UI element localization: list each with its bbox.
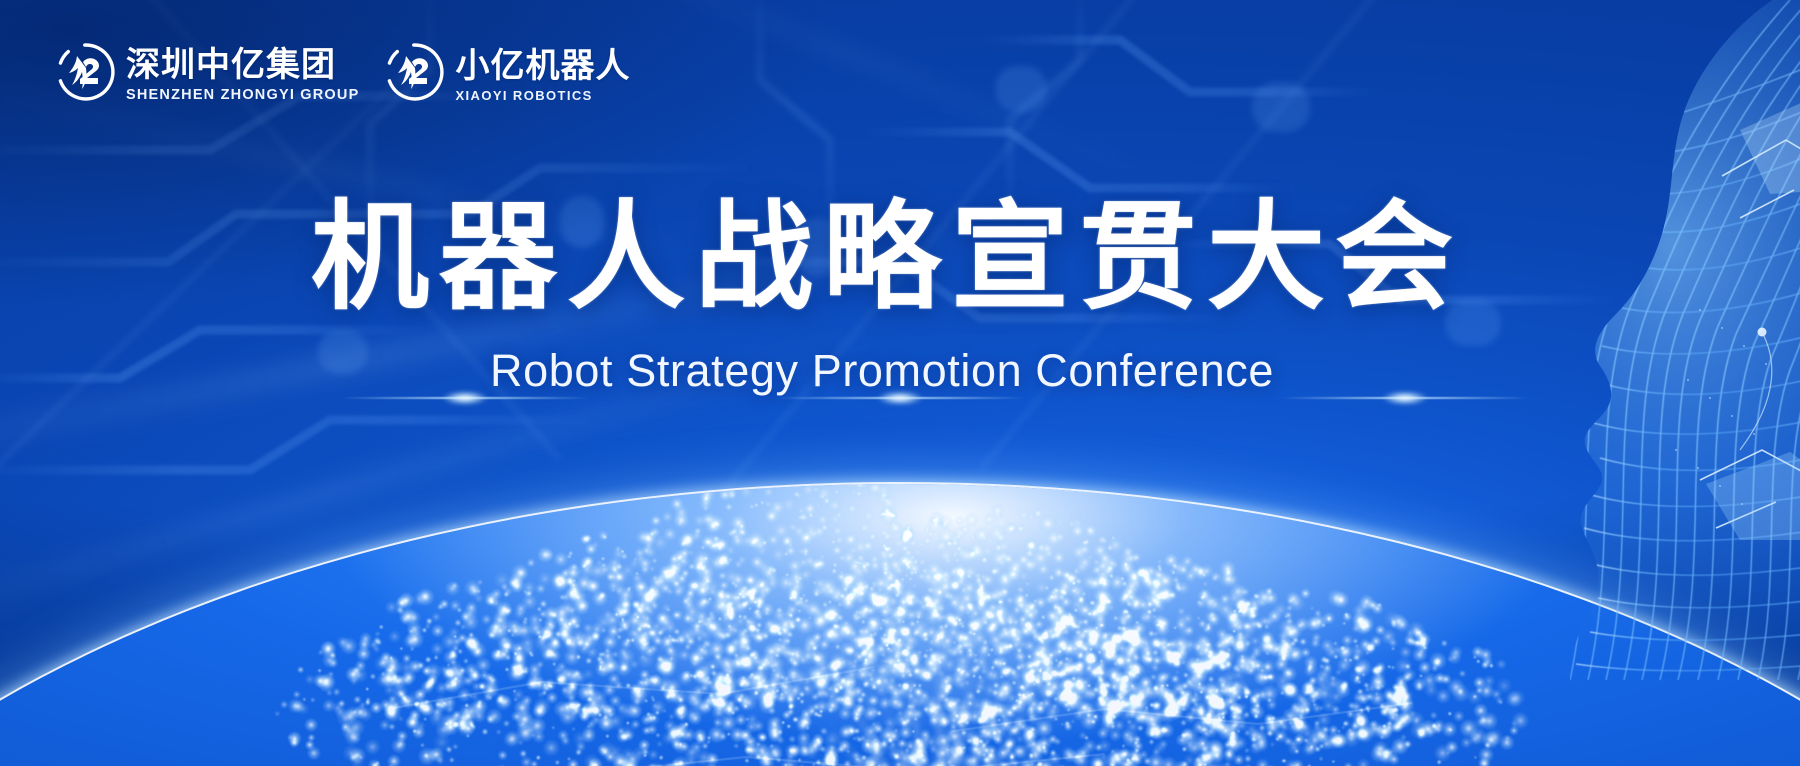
logo-name-cn: 小亿机器人 [455,49,630,83]
earth-atmosphere-rim [0,484,1800,766]
zhongyi-emblem-icon [56,42,116,102]
logo-xiaoyi-robotics[interactable]: 小亿机器人 XIAOYI ROBOTICS [385,42,630,102]
logo-row: 深圳中亿集团 SHENZHEN ZHONGYI GROUP 小亿机器人 XIAO… [56,42,630,102]
zhongyi-emblem-icon [385,42,445,102]
logo-name-en: SHENZHEN ZHONGYI GROUP [126,88,359,103]
logo-name-en: XIAOYI ROBOTICS [455,89,630,102]
logo-name-cn: 深圳中亿集团 [126,48,359,82]
conference-banner: 深圳中亿集团 SHENZHEN ZHONGYI GROUP 小亿机器人 XIAO… [0,0,1800,766]
logo-text-group: 小亿机器人 XIAOYI ROBOTICS [455,49,630,102]
logo-shenzhen-zhongyi-group[interactable]: 深圳中亿集团 SHENZHEN ZHONGYI GROUP [56,42,359,102]
logo-text-group: 深圳中亿集团 SHENZHEN ZHONGYI GROUP [126,48,359,103]
earth-horizon-sunrise [0,406,1800,766]
